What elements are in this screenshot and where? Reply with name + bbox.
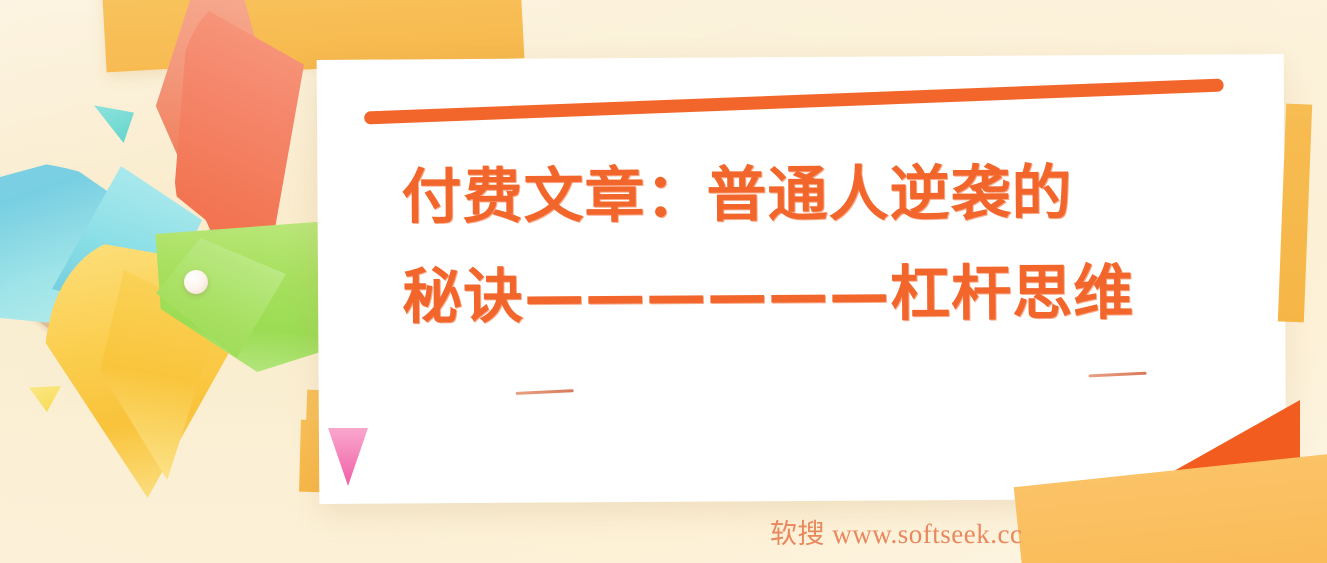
promo-banner: 付费文章：普通人逆袭的 秘诀——————杠杆思维 软搜 www.softseek… bbox=[0, 0, 1327, 563]
page-title: 付费文章：普通人逆袭的 秘诀——————杠杆思维 bbox=[401, 143, 1202, 348]
accent-rule-top bbox=[364, 79, 1224, 125]
pinwheel-hub bbox=[184, 270, 208, 294]
accent-rule-mini-left bbox=[516, 389, 574, 395]
accent-rule-mini-right bbox=[1089, 372, 1147, 378]
title-card: 付费文章：普通人逆袭的 秘诀——————杠杆思维 bbox=[317, 54, 1287, 504]
watermark-text: 软搜 www.softseek.cc bbox=[770, 512, 1022, 551]
